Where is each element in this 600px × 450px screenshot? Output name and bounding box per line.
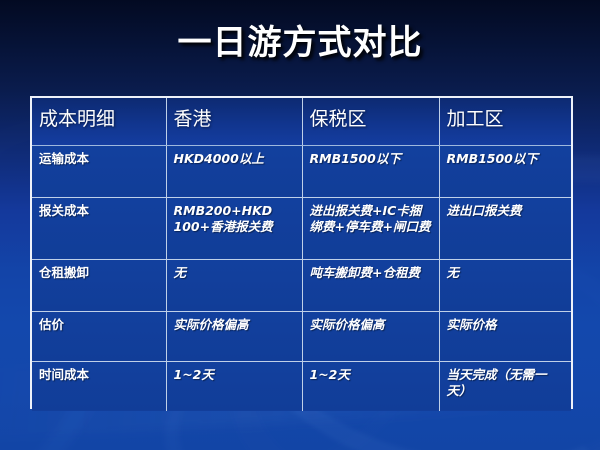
cell-bonded: 1~2天 [302, 361, 439, 411]
column-header-cost-item: 成本明细 [32, 98, 166, 145]
row-label: 仓租搬卸 [32, 259, 166, 311]
table-header-row: 成本明细 香港 保税区 加工区 [32, 98, 571, 145]
column-header-hongkong: 香港 [166, 98, 302, 145]
cost-comparison-table: 成本明细 香港 保税区 加工区 运输成本 HKD4000以上 RMB1500以下… [30, 96, 573, 409]
row-label: 估价 [32, 311, 166, 361]
cell-bonded: 吨车搬卸费+仓租费 [302, 259, 439, 311]
row-label: 报关成本 [32, 197, 166, 259]
table-row: 运输成本 HKD4000以上 RMB1500以下 RMB1500以下 [32, 145, 571, 197]
row-label: 时间成本 [32, 361, 166, 411]
cell-processing: 进出口报关费 [439, 197, 571, 259]
column-header-bonded-zone: 保税区 [302, 98, 439, 145]
cell-bonded: 实际价格偏高 [302, 311, 439, 361]
cell-processing: 无 [439, 259, 571, 311]
table-row: 仓租搬卸 无 吨车搬卸费+仓租费 无 [32, 259, 571, 311]
cell-hongkong: RMB200+HKD 100+香港报关费 [166, 197, 302, 259]
column-header-processing-zone: 加工区 [439, 98, 571, 145]
slide-canvas: 一日游方式对比 成本明细 香港 保税区 加工区 运输成本 HKD4000以上 R… [0, 0, 600, 450]
cell-hongkong: HKD4000以上 [166, 145, 302, 197]
cell-bonded: RMB1500以下 [302, 145, 439, 197]
slide-title: 一日游方式对比 [0, 23, 600, 63]
cell-hongkong: 实际价格偏高 [166, 311, 302, 361]
table-row: 估价 实际价格偏高 实际价格偏高 实际价格 [32, 311, 571, 361]
table-row: 时间成本 1~2天 1~2天 当天完成（无需一天） [32, 361, 571, 411]
cell-processing: 实际价格 [439, 311, 571, 361]
comparison-table: 成本明细 香港 保税区 加工区 运输成本 HKD4000以上 RMB1500以下… [32, 98, 571, 411]
row-label: 运输成本 [32, 145, 166, 197]
cell-hongkong: 无 [166, 259, 302, 311]
cell-hongkong: 1~2天 [166, 361, 302, 411]
table-row: 报关成本 RMB200+HKD 100+香港报关费 进出报关费+IC卡捆绑费+停… [32, 197, 571, 259]
cell-bonded: 进出报关费+IC卡捆绑费+停车费+闸口费 [302, 197, 439, 259]
cell-processing: RMB1500以下 [439, 145, 571, 197]
cell-processing: 当天完成（无需一天） [439, 361, 571, 411]
